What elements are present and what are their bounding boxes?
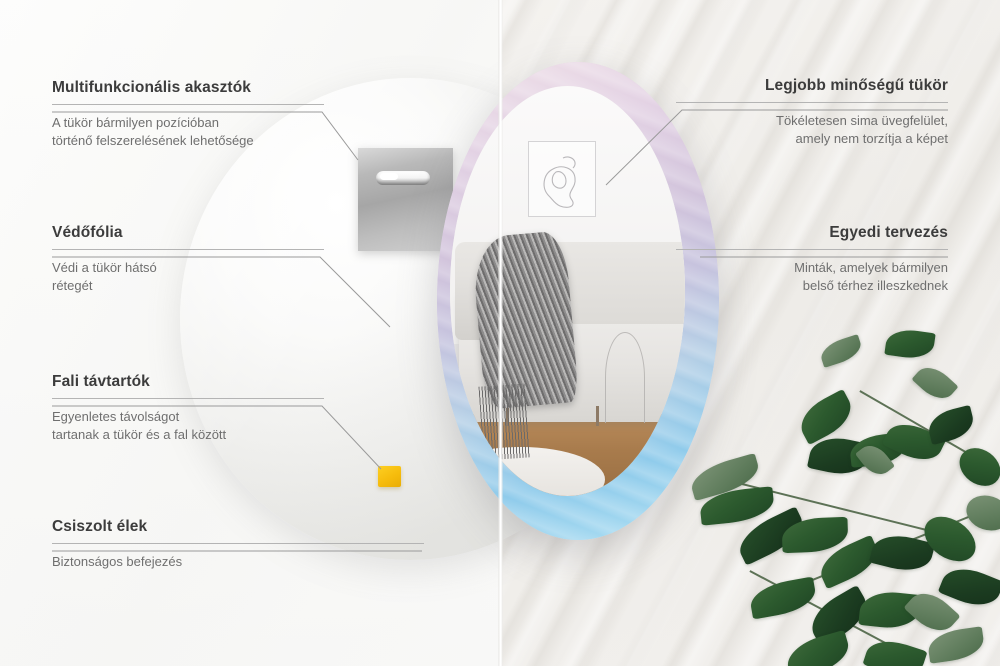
callout-title: Multifunkcionális akasztók bbox=[52, 79, 324, 97]
reflected-floor-lamp bbox=[605, 332, 645, 423]
callout-description: Biztonságos befejezés bbox=[52, 553, 424, 571]
wall-hanger-plate bbox=[358, 148, 453, 251]
callout-rule bbox=[676, 102, 948, 103]
leaf bbox=[818, 334, 865, 368]
panel-divider bbox=[498, 0, 503, 666]
callout-title: Egyedi tervezés bbox=[676, 224, 948, 242]
callout-description: A tükör bármilyen pozícióban történő fel… bbox=[52, 114, 324, 151]
leaf bbox=[911, 360, 958, 406]
callout-title: Fali távtartók bbox=[52, 373, 324, 391]
callout-egyedi-tervezes: Egyedi tervezés Minták, amelyek bármilye… bbox=[676, 224, 948, 296]
callout-vedofolia: Védőfólia Védi a tükör hátsó rétegét bbox=[52, 224, 324, 296]
callout-csiszolt-elek: Csiszolt élek Biztonságos befejezés bbox=[52, 518, 424, 571]
callout-title: Legjobb minőségű tükör bbox=[676, 77, 948, 95]
leaf bbox=[926, 626, 986, 664]
callout-rule bbox=[52, 249, 324, 250]
wall-spacer bbox=[378, 466, 401, 487]
callout-title: Védőfólia bbox=[52, 224, 324, 242]
callout-fali-tavtartok: Fali távtartók Egyenletes távolságot tar… bbox=[52, 373, 324, 445]
callout-description: Védi a tükör hátsó rétegét bbox=[52, 259, 324, 296]
callout-title: Csiszolt élek bbox=[52, 518, 424, 536]
leaf bbox=[862, 634, 927, 666]
callout-legjobb-minosegu-tukor: Legjobb minőségű tükör Tökéletesen sima … bbox=[676, 77, 948, 149]
reflected-sofa-leg bbox=[596, 406, 599, 427]
reflected-framed-artwork bbox=[528, 141, 596, 217]
leaf bbox=[884, 327, 935, 361]
callout-rule bbox=[52, 104, 324, 105]
callout-rule bbox=[676, 249, 948, 250]
hanger-slot-icon bbox=[376, 171, 430, 185]
callout-multifunkcionalis-akasztok: Multifunkcionális akasztók A tükör bármi… bbox=[52, 79, 324, 151]
leaf bbox=[748, 577, 819, 620]
callout-description: Egyenletes távolságot tartanak a tükör é… bbox=[52, 408, 324, 445]
mirror-reflection bbox=[450, 86, 685, 496]
callout-description: Minták, amelyek bármilyen belső térhez i… bbox=[676, 259, 948, 296]
decorative-foliage bbox=[690, 330, 1000, 666]
line-art-face-icon bbox=[529, 142, 595, 216]
reflected-throw-fringe bbox=[478, 384, 530, 461]
callout-rule bbox=[52, 543, 424, 544]
leaf bbox=[793, 389, 858, 445]
callout-rule bbox=[52, 398, 324, 399]
callout-description: Tökéletesen sima üvegfelület, amely nem … bbox=[676, 112, 948, 149]
leaf bbox=[925, 405, 977, 445]
infographic-stage: Multifunkcionális akasztók A tükör bármi… bbox=[0, 0, 1000, 666]
